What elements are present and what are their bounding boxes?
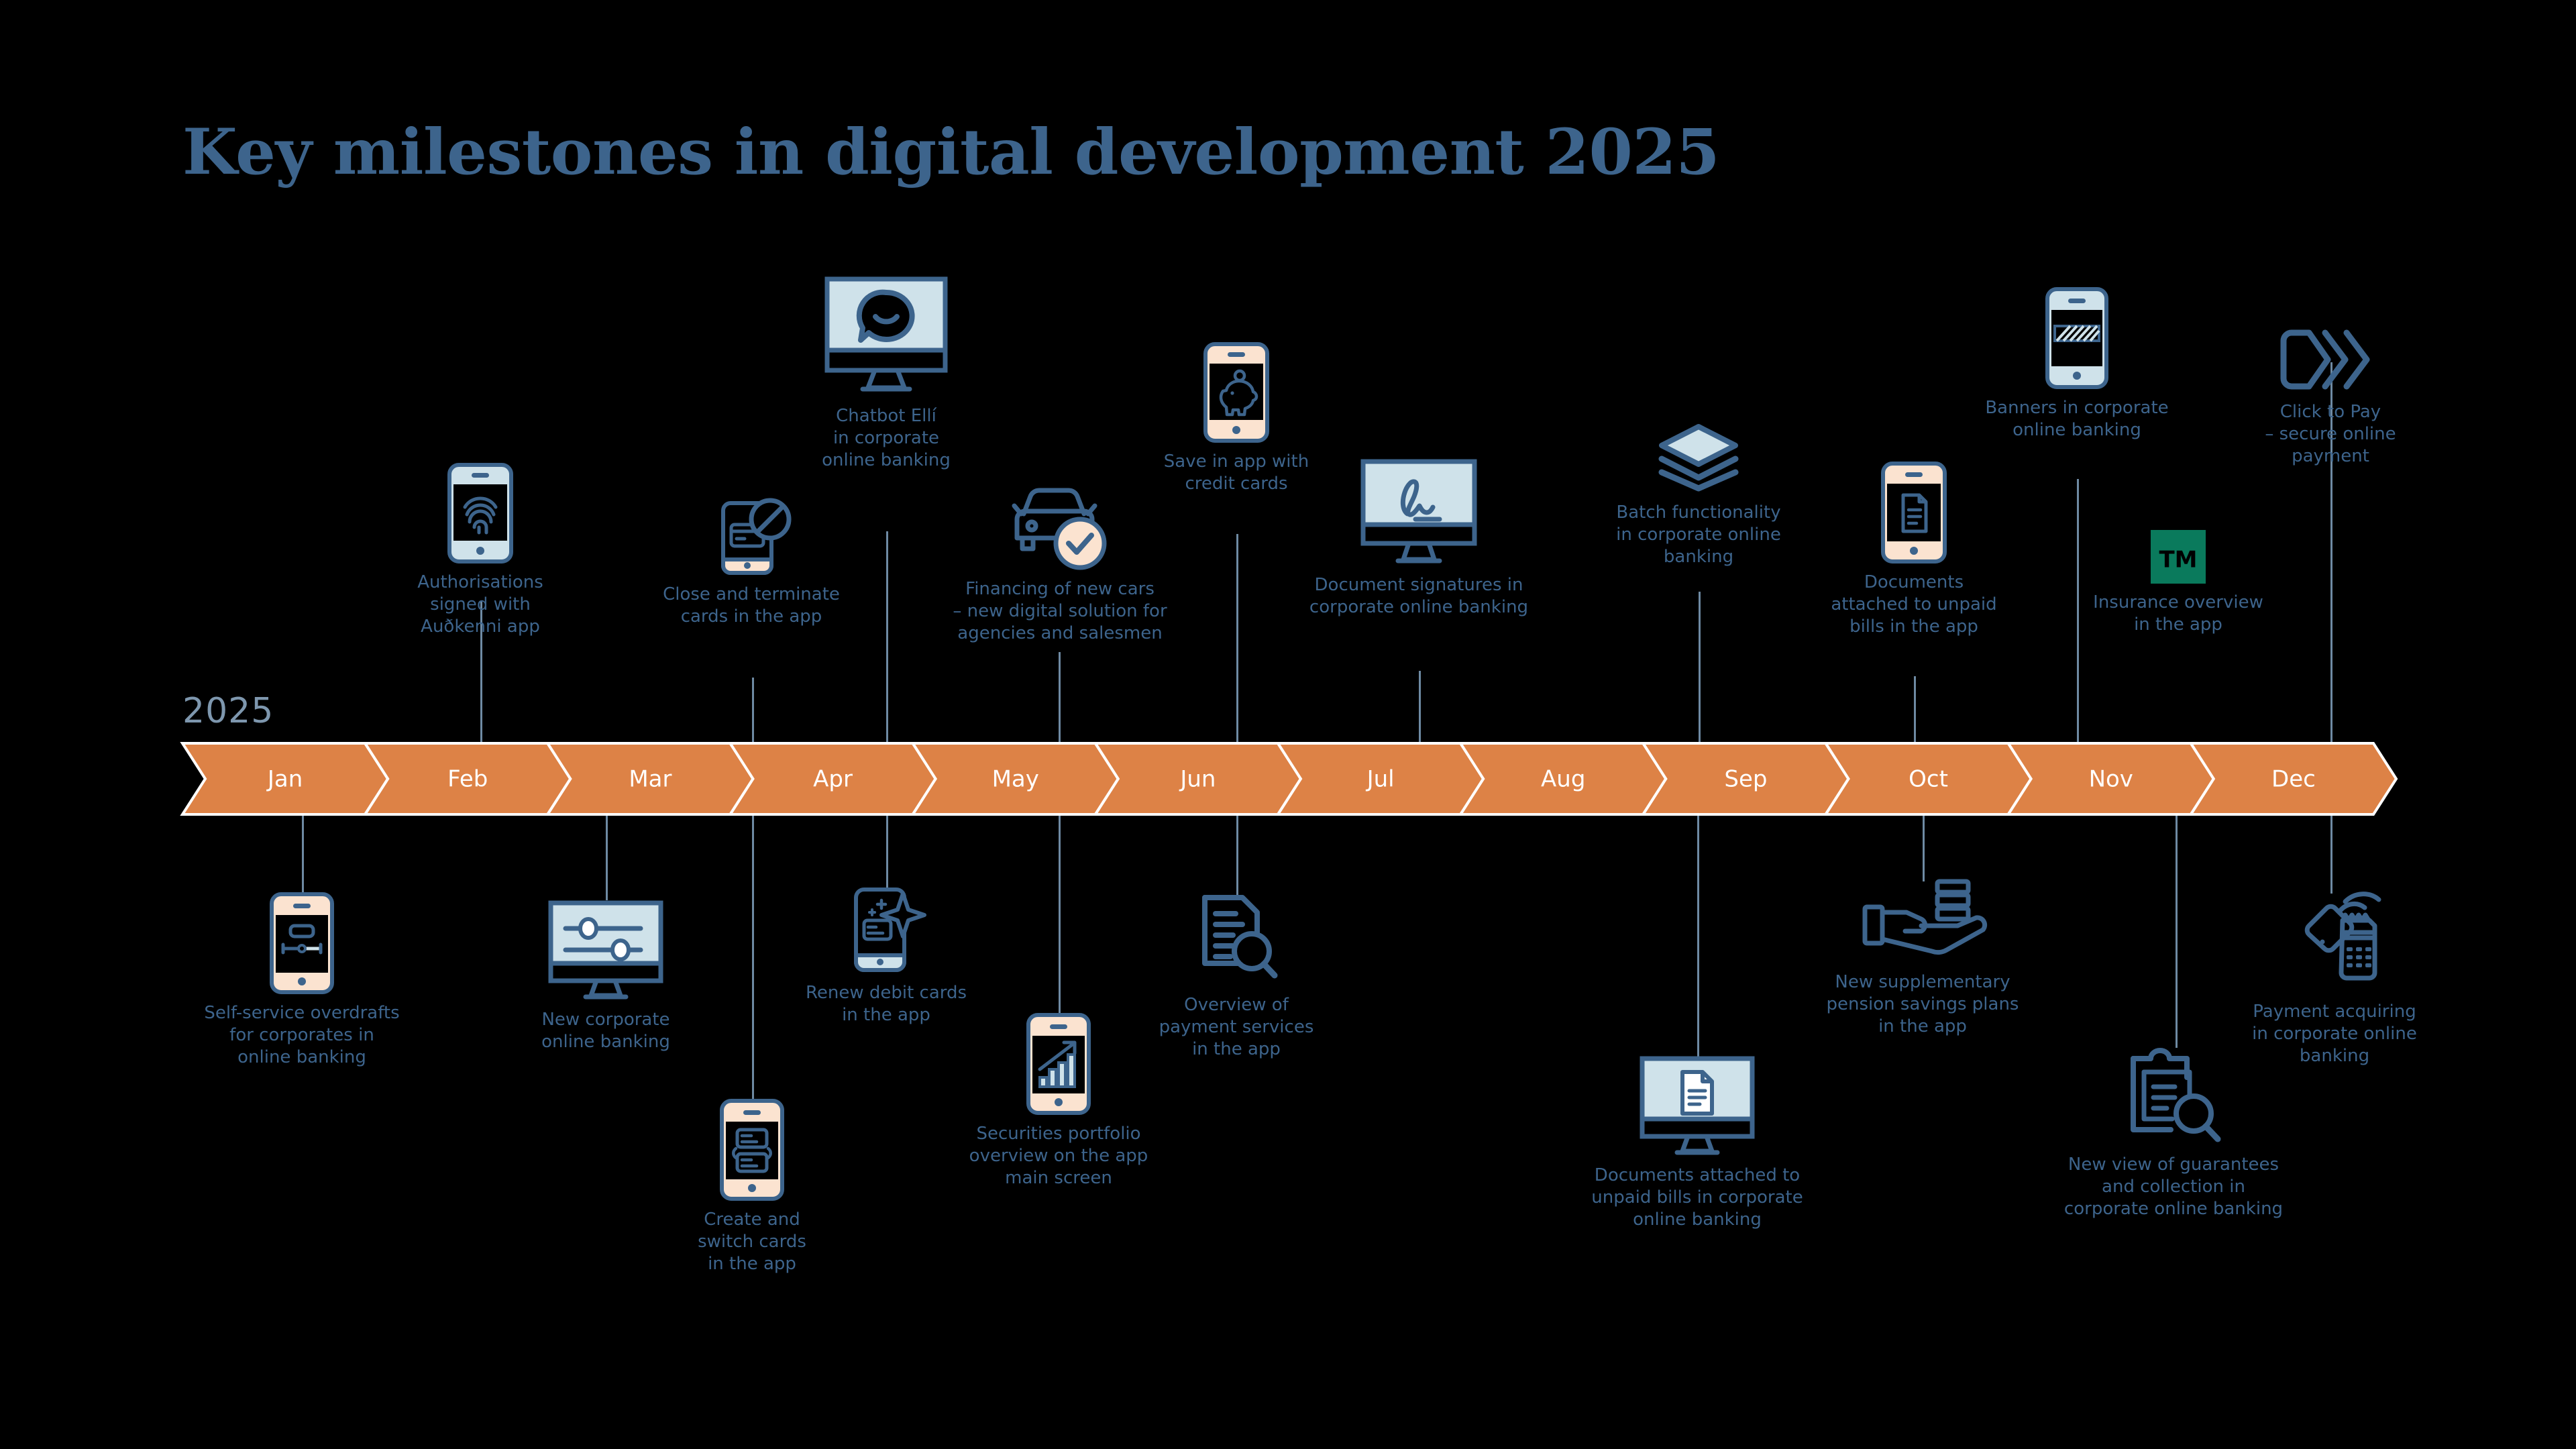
milestone-above-feb[interactable]: Authorisations signed with Auðkenni app <box>380 463 581 637</box>
connector-line-feb-below <box>606 814 608 900</box>
milestone-caption: Documents attached to unpaid bills in th… <box>1817 572 2011 637</box>
connector-line-dec-below <box>2330 814 2332 894</box>
monitor-sliders-icon <box>512 899 700 1001</box>
connector-line-nov-below <box>2176 814 2178 1048</box>
tm-logo-icon: TM <box>2081 530 2275 584</box>
milestone-above-nov-insurance[interactable]: TM Insurance overview in the app <box>2081 530 2275 636</box>
connector-line-sep-below <box>1923 814 1925 881</box>
timeline-month-label: Mar <box>629 766 672 793</box>
svg-text:TM: TM <box>2159 547 2197 574</box>
connector-line-nov-above <box>2077 479 2079 743</box>
milestone-below-apr[interactable]: Renew debit cards in the app <box>792 885 980 1026</box>
milestone-caption: Banners in corporate online banking <box>1963 397 2191 441</box>
timeline-month-label: Feb <box>447 766 488 793</box>
milestone-below-feb[interactable]: New corporate online banking <box>512 899 700 1053</box>
connector-line-jun-below <box>1236 814 1238 895</box>
milestone-caption: Document signatures in corporate online … <box>1288 574 1550 619</box>
milestone-caption: Click to Pay – secure online payment <box>2230 401 2431 467</box>
timeline-month-label: Jun <box>1179 766 1216 793</box>
milestone-above-sep[interactable]: Batch functionality in corporate online … <box>1585 421 1813 568</box>
milestone-above-may[interactable]: Financing of new cars – new digital solu… <box>932 476 1187 644</box>
connector-line-oct-above <box>1914 676 1916 743</box>
milestone-caption: Overview of payment services in the app <box>1136 994 1337 1060</box>
milestone-caption: Financing of new cars – new digital solu… <box>932 578 1187 644</box>
year-label: 2025 <box>182 691 274 731</box>
monitor-document-icon <box>1560 1055 1835 1157</box>
connector-line-may-above <box>1059 652 1061 743</box>
phone-piggybank-icon <box>1132 342 1340 443</box>
milestone-caption: Create and switch cards in the app <box>658 1209 846 1275</box>
phone-slider-icon <box>181 892 423 994</box>
phone-card-sparkle-icon <box>792 885 980 974</box>
milestone-above-oct[interactable]: Documents attached to unpaid bills in th… <box>1817 462 2011 637</box>
connector-line-jan-below <box>302 814 304 896</box>
timeline-month-label: May <box>992 766 1039 793</box>
milestone-above-dec[interactable]: Click to Pay – secure online payment <box>2230 326 2431 467</box>
timeline-month-label: Aug <box>1541 766 1585 793</box>
timeline-month-label: Apr <box>813 766 853 793</box>
phone-chart-growth-icon <box>951 1013 1166 1115</box>
connector-line-apr-below <box>886 814 888 888</box>
phone-card-blocked-icon <box>637 490 865 576</box>
milestone-below-jun[interactable]: Overview of payment services in the app <box>1136 892 1337 1060</box>
timeline-month-label: Oct <box>1909 766 1948 793</box>
timeline-bar: JanFebMarAprMayJunJulAugSepOctNovDec <box>182 743 2396 814</box>
milestone-caption: Payment acquiring in corporate online ba… <box>2227 1001 2442 1067</box>
connector-line-jul-above <box>1419 671 1421 743</box>
milestone-caption: Documents attached to unpaid bills in co… <box>1560 1165 1835 1230</box>
connector-line-jun-above <box>1236 534 1238 743</box>
milestone-caption: Securities portfolio overview on the app… <box>951 1123 1166 1189</box>
phone-switch-cards-icon <box>658 1099 846 1201</box>
milestone-below-may[interactable]: Securities portfolio overview on the app… <box>951 1013 1166 1189</box>
phone-fingerprint-icon <box>380 463 581 563</box>
monitor-chat-bubble-icon <box>786 275 987 397</box>
infographic-canvas: Key milestones in digital development 20… <box>0 0 2576 1449</box>
milestone-above-apr[interactable]: Chatbot Ellí in corporate online banking <box>786 275 987 471</box>
milestone-below-mar[interactable]: Create and switch cards in the app <box>658 1099 846 1275</box>
milestone-above-mar[interactable]: Close and terminate cards in the app <box>637 490 865 628</box>
timeline-month-label: Sep <box>1724 766 1767 793</box>
phone-document-icon <box>1817 462 2011 563</box>
milestone-caption: New corporate online banking <box>512 1009 700 1053</box>
contactless-terminal-icon <box>2227 891 2442 993</box>
milestone-caption: Insurance overview in the app <box>2081 592 2275 636</box>
milestone-caption: Chatbot Ellí in corporate online banking <box>786 405 987 471</box>
connector-line-may-below <box>1059 814 1061 1016</box>
milestone-below-sep[interactable]: New supplementary pension savings plans … <box>1802 877 2043 1037</box>
timeline-month-label: Dec <box>2271 766 2316 793</box>
milestone-below-aug[interactable]: Documents attached to unpaid bills in co… <box>1560 1055 1835 1230</box>
page-title: Key milestones in digital development 20… <box>182 115 1719 189</box>
milestone-caption: New view of guarantees and collection in… <box>2039 1154 2308 1220</box>
stacked-layers-icon <box>1585 421 1813 494</box>
milestone-caption: Close and terminate cards in the app <box>637 584 865 628</box>
milestone-below-jan[interactable]: Self-service overdrafts for corporates i… <box>181 892 423 1068</box>
milestone-caption: Batch functionality in corporate online … <box>1585 502 1813 568</box>
milestone-below-nov[interactable]: New view of guarantees and collection in… <box>2039 1045 2308 1220</box>
milestone-caption: Self-service overdrafts for corporates i… <box>181 1002 423 1068</box>
milestone-caption: New supplementary pension savings plans … <box>1802 971 2043 1037</box>
connector-line-mar-below <box>752 814 754 1103</box>
connector-line-apr-above <box>886 531 888 743</box>
timeline-month-label: Nov <box>2089 766 2133 793</box>
phone-banner-icon <box>1963 287 2191 389</box>
timeline-month-label: Jan <box>266 766 303 793</box>
monitor-signature-icon <box>1288 458 1550 566</box>
click-to-pay-chevrons-icon <box>2230 326 2431 393</box>
timeline-month-label: Jul <box>1366 766 1395 793</box>
connector-line-aug-below <box>1697 814 1699 1059</box>
milestone-caption: Authorisations signed with Auðkenni app <box>380 572 581 637</box>
document-magnifier-icon <box>1136 892 1337 986</box>
connector-line-mar-above <box>752 678 754 743</box>
milestone-above-jul[interactable]: Document signatures in corporate online … <box>1288 458 1550 619</box>
milestone-below-dec[interactable]: Payment acquiring in corporate online ba… <box>2227 891 2442 1067</box>
milestone-above-nov[interactable]: Banners in corporate online banking <box>1963 287 2191 441</box>
hand-coins-icon <box>1802 877 2043 963</box>
connector-line-sep-above <box>1699 592 1701 743</box>
